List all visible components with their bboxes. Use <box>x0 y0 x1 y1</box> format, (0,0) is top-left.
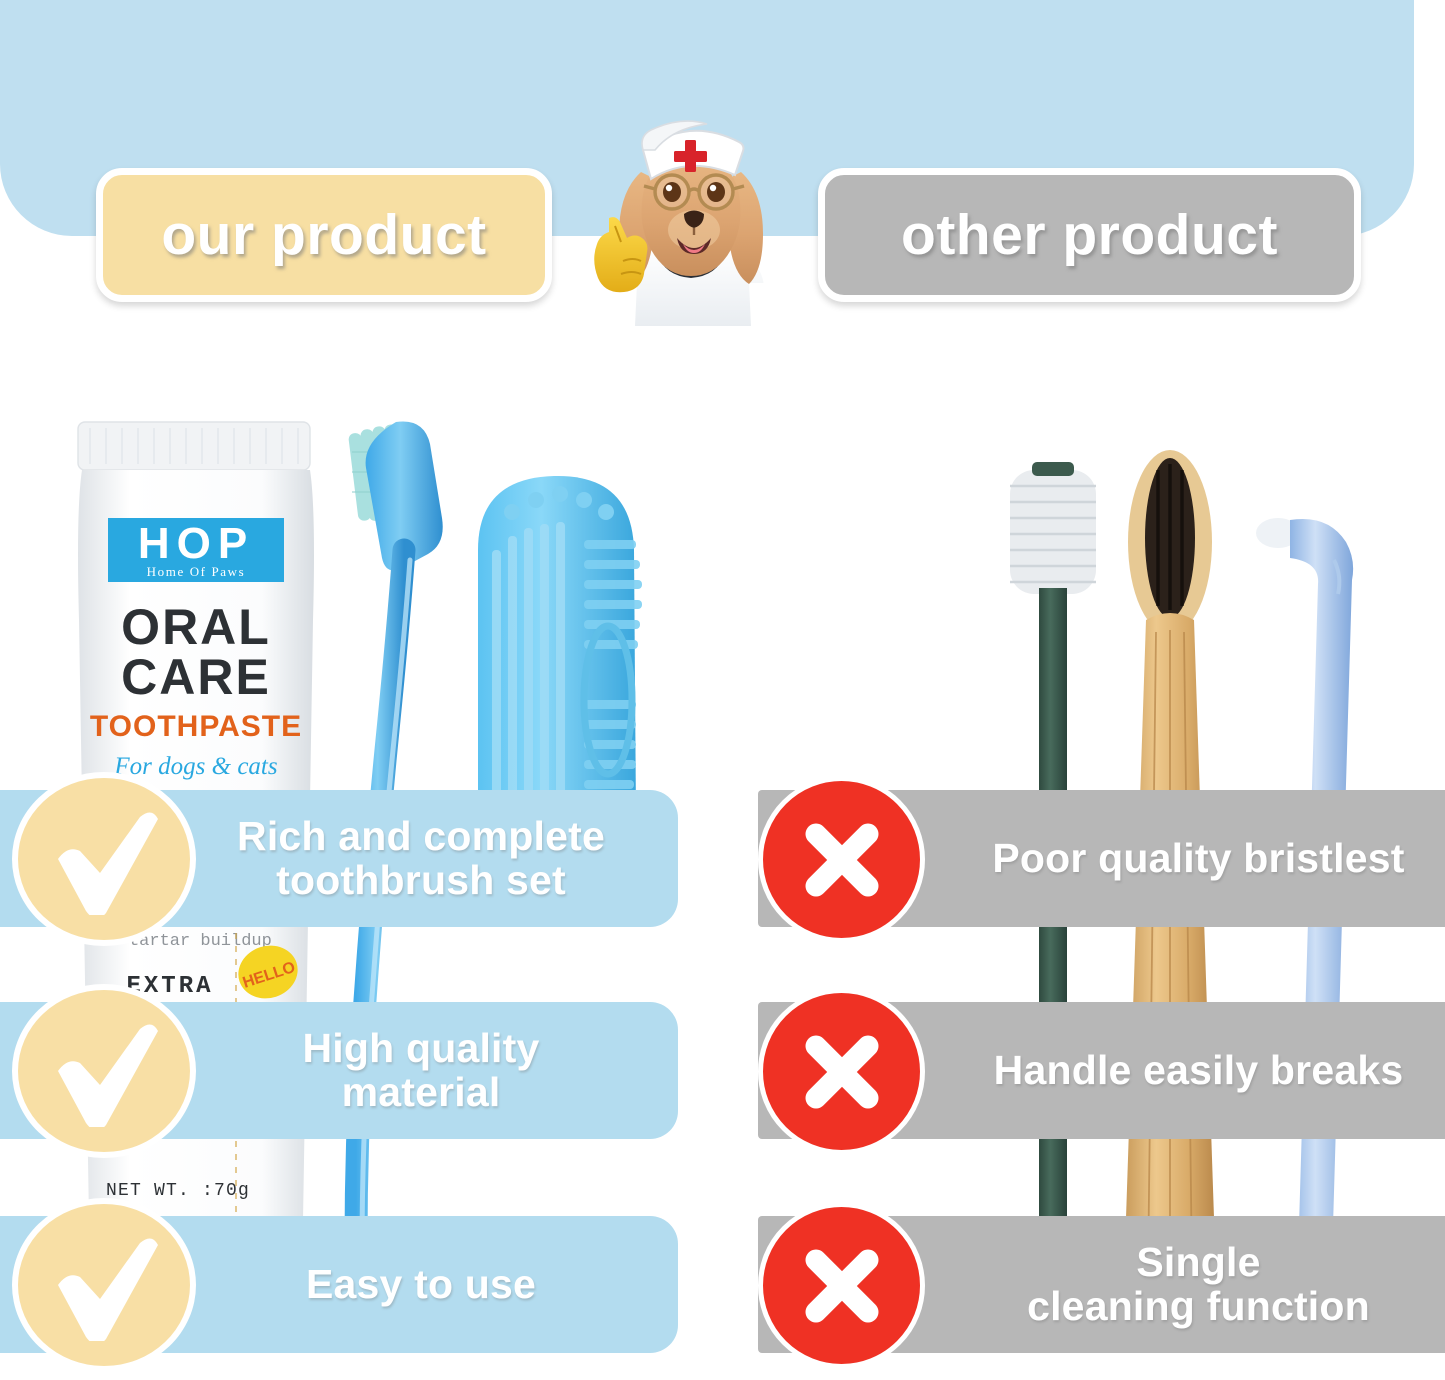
svg-text:For dogs & cats: For dogs & cats <box>113 753 277 780</box>
svg-text:HOP: HOP <box>138 519 254 568</box>
other-feature-row-1[interactable]: Poor quality bristlest <box>758 790 1445 927</box>
check-icon <box>12 772 196 946</box>
our-feature-row-1[interactable]: Rich and complete toothbrush set <box>0 790 678 927</box>
our-product-label: our product <box>161 202 486 268</box>
left-eye <box>663 182 681 202</box>
our-feature-row-2[interactable]: High quality material <box>0 1002 678 1139</box>
svg-text:CARE: CARE <box>121 649 271 705</box>
x-icon <box>758 776 925 943</box>
other-feature-row-2[interactable]: Handle easily breaks <box>758 1002 1445 1139</box>
svg-text:TOOTHPASTE: TOOTHPASTE <box>90 710 302 743</box>
nurse-cap-icon <box>642 121 744 179</box>
check-icon <box>12 984 196 1158</box>
svg-text:NET WT. :70g: NET WT. :70g <box>106 1181 250 1201</box>
other-product-label: other product <box>901 202 1278 268</box>
other-product-pill[interactable]: other product <box>818 168 1361 302</box>
svg-text:Home Of Paws: Home Of Paws <box>147 564 246 579</box>
other-feature-row-3[interactable]: Single cleaning function <box>758 1216 1445 1353</box>
check-icon <box>12 1198 196 1372</box>
x-icon <box>758 1202 925 1369</box>
nurse-dog-mascot <box>573 78 809 326</box>
our-product-pill[interactable]: our product <box>96 168 552 302</box>
our-feature-row-3[interactable]: Easy to use <box>0 1216 678 1353</box>
right-eye <box>707 182 725 202</box>
svg-text:ORAL: ORAL <box>121 599 271 655</box>
x-icon <box>758 988 925 1155</box>
